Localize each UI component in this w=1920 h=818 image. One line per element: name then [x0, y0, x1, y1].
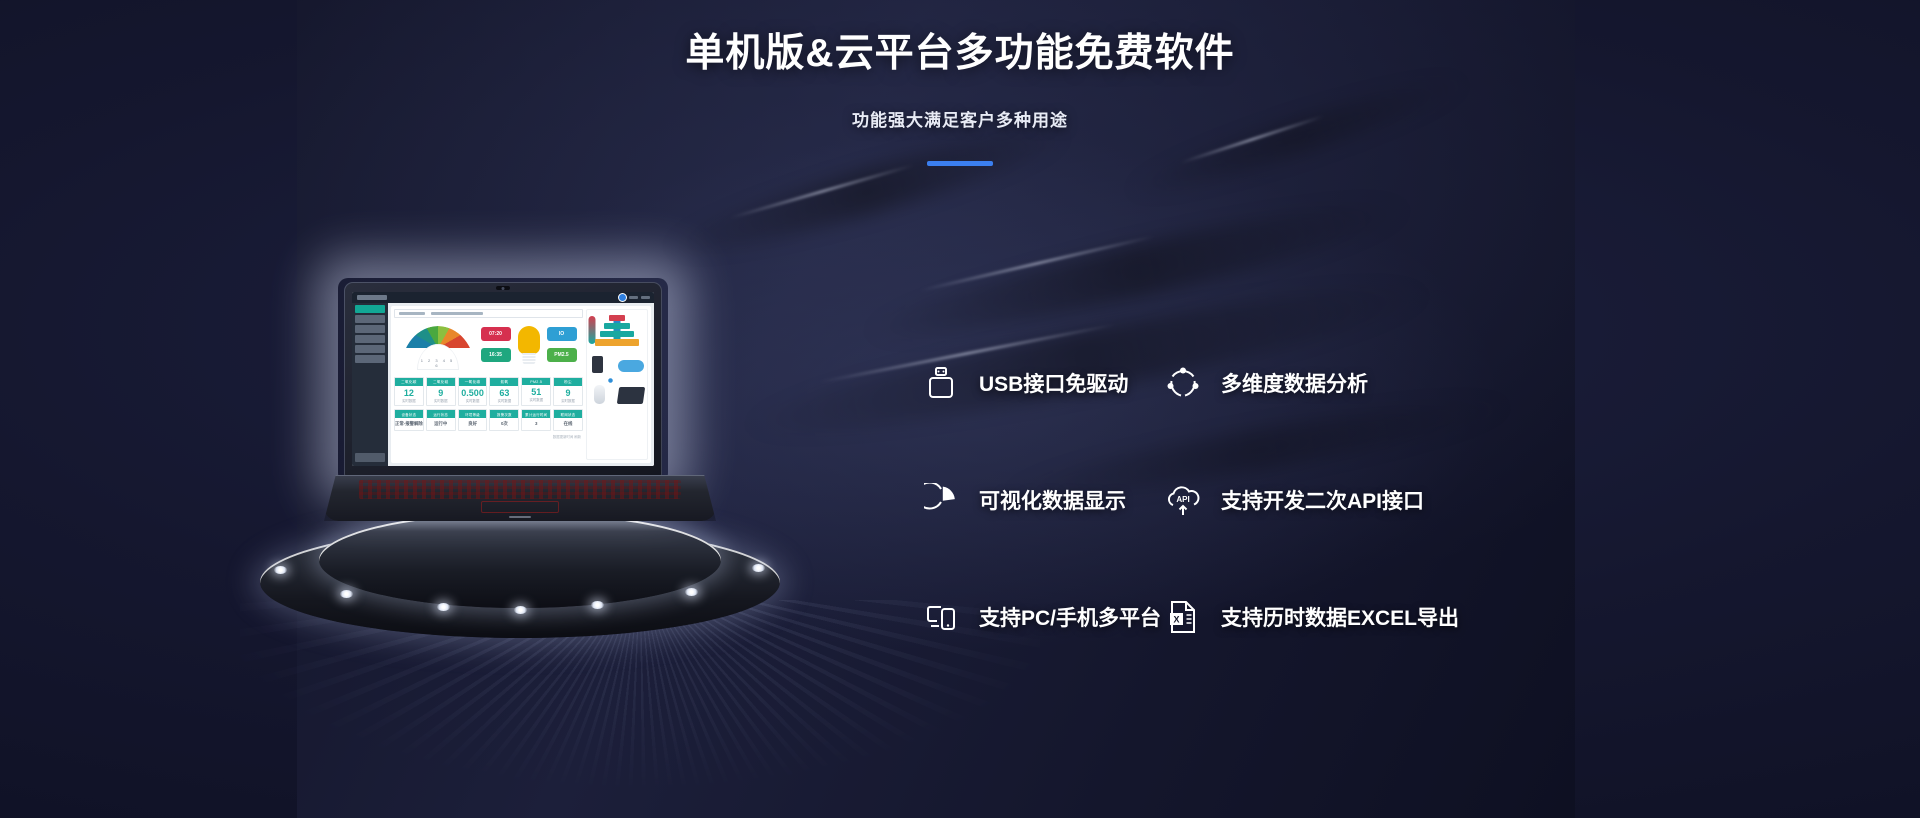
- cloud-icon: [618, 360, 644, 372]
- sidebar-item-alarm[interactable]: [355, 345, 385, 353]
- feature-label: 支持历时数据EXCEL导出: [1221, 602, 1459, 632]
- feature-label: USB接口免驱动: [979, 368, 1128, 398]
- feature-item-multiplatform[interactable]: 支持PC/手机多平台: [920, 596, 1162, 638]
- stat-header: 环境等级: [459, 410, 487, 418]
- gauge-ticks: 1 2 3 4 5 6: [419, 358, 457, 368]
- stat-header: 累计运行时间: [522, 410, 550, 418]
- stat-value: 良好: [459, 418, 487, 430]
- device-topology-illustration: [590, 356, 644, 404]
- sidebar-item-monitor[interactable]: [355, 315, 385, 323]
- stat-card: 设备状态 正常-报警解除: [394, 409, 424, 431]
- stat-value: 63: [490, 386, 518, 398]
- stat-header: 联网状态: [554, 410, 582, 418]
- stat-value: 0.500: [459, 386, 487, 398]
- stat-card: PM2.5 51 实时数据: [521, 377, 551, 406]
- wifi-icon: [606, 376, 615, 385]
- stat-card: 联网状态 在线: [553, 409, 583, 431]
- pyramid-tier: [609, 315, 625, 321]
- title-divider: [927, 161, 993, 166]
- stat-card-row-secondary: 设备状态 正常-报警解除 运行状态 运行中 环境等级 良好: [394, 409, 583, 431]
- sidebar-item-overview[interactable]: [355, 305, 385, 313]
- server-icon: [592, 356, 603, 373]
- laptop-base: [324, 475, 716, 521]
- pedestal-light-dot: [514, 606, 527, 614]
- hero-header: 单机版&云平台多功能免费软件 功能强大满足客户多种用途: [0, 22, 1920, 166]
- bulb-callout: 16:35: [481, 348, 511, 362]
- pedestal-light-dot: [274, 566, 287, 574]
- network-nodes-icon: [1162, 362, 1204, 404]
- stat-card: 运行状态 运行中: [426, 409, 456, 431]
- feature-label: 可视化数据显示: [979, 485, 1126, 515]
- dashboard-main-column: 1 2 3 4 5 6 07:20 IO 16:35 PM2.5: [394, 309, 583, 460]
- stat-card: 累计运行时间 3: [521, 409, 551, 431]
- dashboard-footnote: 数据更新时间 刷新: [394, 434, 583, 439]
- sidebar-footer: [355, 453, 385, 462]
- bulb-callout: 07:20: [481, 327, 511, 341]
- feature-item-excel-export[interactable]: X 支持历时数据EXCEL导出: [1162, 596, 1459, 638]
- page-subtitle: 功能强大满足客户多种用途: [0, 106, 1920, 131]
- page-title: 单机版&云平台多功能免费软件: [0, 22, 1920, 78]
- bulb-glass: [518, 326, 540, 354]
- stat-header: 粉尘: [554, 378, 582, 386]
- usb-icon: [920, 362, 962, 404]
- breadcrumb: [394, 309, 583, 318]
- pyramid-tier: [604, 323, 630, 329]
- feature-label: 多维度数据分析: [1221, 368, 1368, 398]
- cloud-api-icon: API: [1162, 479, 1204, 521]
- feature-label: 支持开发二次API接口: [1221, 485, 1424, 515]
- trackpad: [481, 501, 559, 513]
- stat-unit: 实时数据: [459, 398, 487, 405]
- dashboard-user-area[interactable]: [619, 294, 650, 301]
- stat-header: 二氧化碳: [395, 378, 423, 386]
- dashboard-panel: 1 2 3 4 5 6 07:20 IO 16:35 PM2.5: [391, 306, 651, 463]
- bulb-callout: IO: [547, 327, 577, 341]
- stat-unit: 实时数据: [395, 398, 423, 405]
- feature-item-usb[interactable]: USB接口免驱动: [920, 362, 1162, 404]
- laptop-lid: 1 2 3 4 5 6 07:20 IO 16:35 PM2.5: [344, 282, 662, 478]
- user-name-placeholder: [629, 296, 638, 299]
- logout-placeholder: [641, 296, 650, 299]
- dashboard-visuals: 1 2 3 4 5 6 07:20 IO 16:35 PM2.5: [394, 321, 583, 374]
- stat-unit: 实时数据: [554, 398, 582, 405]
- sidebar-item-device[interactable]: [355, 325, 385, 333]
- bulb-base: [522, 353, 535, 365]
- stat-unit: 实时数据: [490, 398, 518, 405]
- pedestal-inner-ring: [319, 512, 721, 608]
- stat-header: 运行状态: [427, 410, 455, 418]
- feature-list: USB接口免驱动 多维度数据分析 可视化数据显示: [920, 362, 1459, 638]
- stat-card-row-primary: 二氧化碳 12 实时数据 二氧化硫 9 实时数据 一氧化碳: [394, 377, 583, 406]
- stat-header: 一氧化碳: [459, 378, 487, 386]
- feature-label: 支持PC/手机多平台: [979, 602, 1161, 632]
- stat-card: 一氧化碳 0.500 实时数据: [458, 377, 488, 406]
- laptop-screen: 1 2 3 4 5 6 07:20 IO 16:35 PM2.5: [352, 292, 654, 466]
- dashboard-side-column: [586, 309, 648, 460]
- pedestal-light-dot: [340, 590, 353, 598]
- lightbulb-infographic: 07:20 IO 16:35 PM2.5: [481, 324, 577, 372]
- stat-card: 报警次数 0次: [489, 409, 519, 431]
- stat-value: 51: [522, 385, 550, 397]
- feature-item-visualization[interactable]: 可视化数据显示: [920, 479, 1162, 521]
- stat-value: 9: [554, 386, 582, 398]
- stat-value: 正常-报警解除: [395, 418, 423, 430]
- feature-item-api[interactable]: API 支持开发二次API接口: [1162, 479, 1459, 521]
- stat-card: 粉尘 9 实时数据: [553, 377, 583, 406]
- svg-text:X: X: [1173, 615, 1179, 625]
- feature-item-multidimensional-analysis[interactable]: 多维度数据分析: [1162, 362, 1459, 404]
- keyboard: [359, 480, 680, 499]
- svg-text:API: API: [1176, 495, 1189, 504]
- laptop-illustration: 1 2 3 4 5 6 07:20 IO 16:35 PM2.5: [250, 270, 790, 600]
- sidebar-item-data[interactable]: [355, 335, 385, 343]
- stat-value: 0次: [490, 418, 518, 430]
- stat-header: 报警次数: [490, 410, 518, 418]
- stat-card: 二氧化碳 12 实时数据: [394, 377, 424, 406]
- pedestal-light-dot: [591, 601, 604, 609]
- dashboard-sidebar[interactable]: [352, 303, 388, 466]
- avatar: [619, 294, 626, 301]
- stat-unit: 实时数据: [522, 397, 550, 404]
- stat-value: 在线: [554, 418, 582, 430]
- lid-latch: [509, 516, 531, 518]
- dashboard-content: 1 2 3 4 5 6 07:20 IO 16:35 PM2.5: [388, 303, 654, 466]
- dashboard-logo: [357, 295, 387, 300]
- sidebar-item-settings[interactable]: [355, 355, 385, 363]
- pyramid-tier: [595, 339, 639, 346]
- pedestal-light-dot: [685, 588, 698, 596]
- multi-segment-gauge: 1 2 3 4 5 6: [401, 326, 475, 370]
- stat-value: 运行中: [427, 418, 455, 430]
- pyramid-tier: [600, 331, 634, 337]
- excel-file-icon: X: [1162, 596, 1204, 638]
- pedestal-light-dot: [752, 564, 765, 572]
- pie-chart-icon: [920, 479, 962, 521]
- devices-icon: [920, 596, 962, 638]
- sensor-icon: [594, 385, 605, 404]
- stat-header: 二氧化硫: [427, 378, 455, 386]
- stat-value: 9: [427, 386, 455, 398]
- stat-card: 环境等级 良好: [458, 409, 488, 431]
- stat-unit: 实时数据: [427, 398, 455, 405]
- laptop-pedestal: [260, 508, 780, 638]
- stat-header: 氮氧: [490, 378, 518, 386]
- pedestal-light-dot: [437, 603, 450, 611]
- stat-card: 氮氧 63 实时数据: [489, 377, 519, 406]
- webcam-icon: [496, 286, 510, 290]
- bulb-callout: PM2.5: [547, 348, 577, 362]
- stat-header: PM2.5: [522, 378, 550, 385]
- pyramid-infographic: [591, 314, 643, 352]
- stat-card: 二氧化硫 9 实时数据: [426, 377, 456, 406]
- tablet-icon: [617, 387, 645, 404]
- dashboard-topbar: [352, 292, 654, 303]
- stat-value: 3: [522, 418, 550, 429]
- stat-value: 12: [395, 386, 423, 398]
- stat-header: 设备状态: [395, 410, 423, 418]
